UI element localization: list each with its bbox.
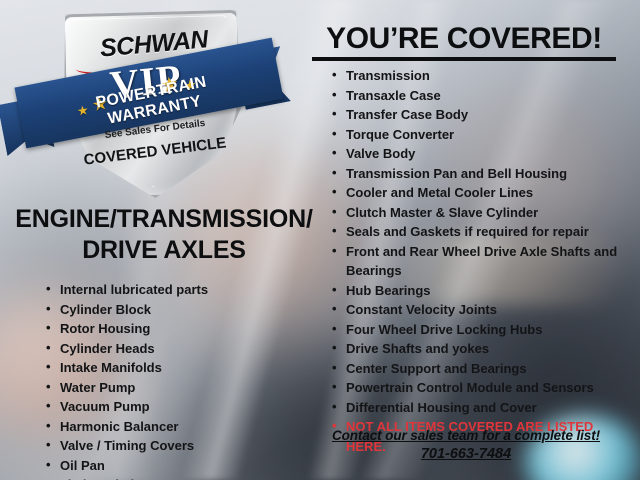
list-item: Valve / Timing Covers bbox=[44, 436, 314, 456]
list-item: Constant Velocity Joints bbox=[330, 300, 630, 320]
list-item: Powertrain Control Module and Sensors bbox=[330, 378, 630, 398]
list-item: Cooler and Metal Cooler Lines bbox=[330, 183, 630, 203]
covered-items-list: TransmissionTransaxle CaseTransfer Case … bbox=[330, 66, 630, 456]
list-item: Oil Pan bbox=[44, 456, 314, 476]
list-item: Intake Manifolds bbox=[44, 358, 314, 378]
list-item: Differential Housing and Cover bbox=[330, 398, 630, 418]
right-heading-text: YOU’RE COVERED! bbox=[326, 22, 602, 55]
contact-footer: Contact our sales team for a complete li… bbox=[306, 428, 626, 462]
list-item: Torque Converter bbox=[330, 125, 630, 145]
list-item: Harmonic Balancer bbox=[44, 417, 314, 437]
list-item: Valve Body bbox=[330, 144, 630, 164]
list-item: Vacuum Pump bbox=[44, 397, 314, 417]
list-item: Rotor Housing bbox=[44, 319, 314, 339]
list-item: Transmission bbox=[330, 66, 630, 86]
list-item: Water Pump bbox=[44, 378, 314, 398]
engine-items-list: Internal lubricated partsCylinder BlockR… bbox=[44, 280, 314, 480]
vip-warranty-badge: SCHWAN VIP ★ ★ ★ ★ POWERTRAIN WARRANTY S… bbox=[18, 4, 280, 196]
list-item: Drive Shafts and yokes bbox=[330, 339, 630, 359]
list-item: Front and Rear Wheel Drive Axle Shafts a… bbox=[330, 242, 630, 281]
heading-underline bbox=[312, 57, 616, 61]
warranty-poster: SCHWAN VIP ★ ★ ★ ★ POWERTRAIN WARRANTY S… bbox=[0, 0, 640, 480]
right-column-heading: YOU’RE COVERED! bbox=[306, 22, 622, 61]
contact-prompt: Contact our sales team for a complete li… bbox=[306, 428, 626, 443]
list-item: Transfer Case Body bbox=[330, 105, 630, 125]
list-item: Transmission Pan and Bell Housing bbox=[330, 164, 630, 184]
list-item: Center Support and Bearings bbox=[330, 359, 630, 379]
left-column-heading: ENGINE/TRANSMISSION/ DRIVE AXLES bbox=[8, 204, 320, 266]
list-item: Four Wheel Drive Locking Hubs bbox=[330, 320, 630, 340]
list-item: Seals and Gaskets if required for repair bbox=[330, 222, 630, 242]
list-item: Cylinder Block bbox=[44, 300, 314, 320]
list-item: Timing Chain & Gears bbox=[44, 475, 314, 480]
list-item: Transaxle Case bbox=[330, 86, 630, 106]
list-item: Clutch Master & Slave Cylinder bbox=[330, 203, 630, 223]
contact-phone[interactable]: 701-663-7484 bbox=[306, 446, 626, 462]
list-item: Cylinder Heads bbox=[44, 339, 314, 359]
list-item: Internal lubricated parts bbox=[44, 280, 314, 300]
list-item: Hub Bearings bbox=[330, 281, 630, 301]
